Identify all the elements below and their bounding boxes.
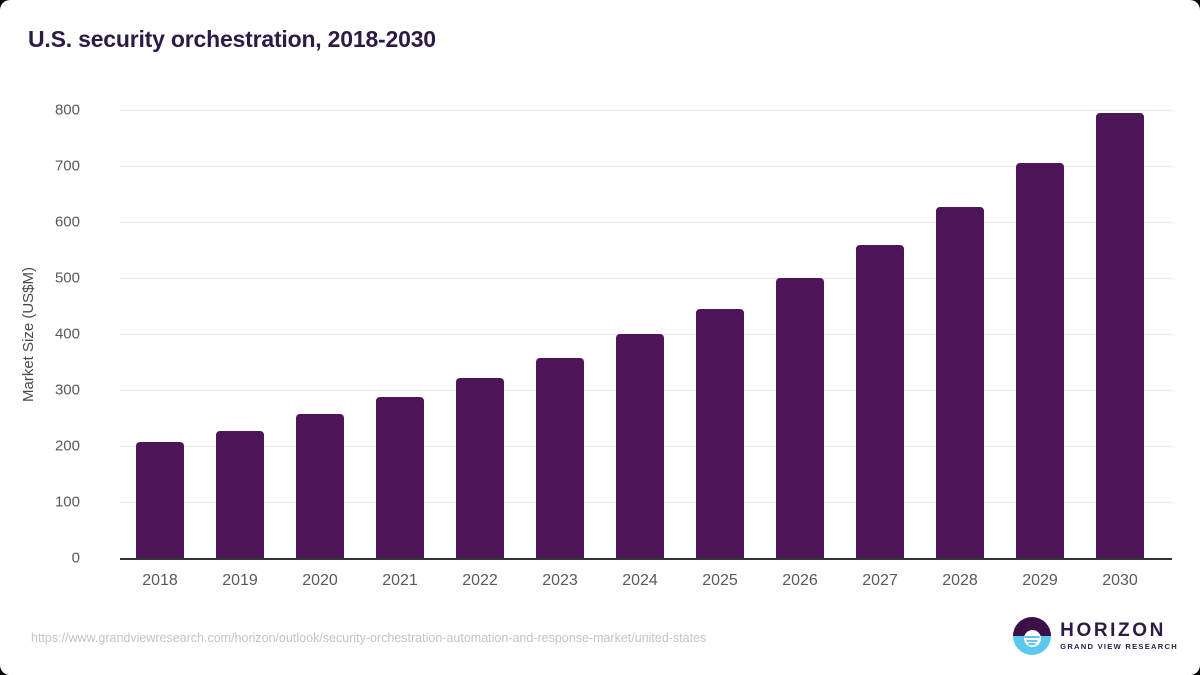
plot-area: 0100200300400500600700800 20182019202020… <box>120 110 1172 558</box>
bar-slot <box>280 110 360 558</box>
chart-card: U.S. security orchestration, 2018-2030 M… <box>0 0 1200 675</box>
chart-title: U.S. security orchestration, 2018-2030 <box>28 26 436 53</box>
bar-2030[interactable] <box>1096 113 1144 558</box>
bar-2029[interactable] <box>1016 163 1064 558</box>
bar-2027[interactable] <box>856 245 904 558</box>
bar-slot <box>680 110 760 558</box>
y-tick-label-300: 300 <box>0 382 80 399</box>
logo-horizon-line-1 <box>1025 636 1040 638</box>
x-tick-label-2024: 2024 <box>600 572 680 590</box>
bar-slot <box>1000 110 1080 558</box>
gridline-0 <box>120 558 1172 560</box>
y-tick-label-500: 500 <box>0 270 80 287</box>
bar-series <box>120 110 1172 558</box>
horizon-logo-text: HORIZON GRAND VIEW RESEARCH <box>1060 621 1178 651</box>
bar-2019[interactable] <box>216 431 264 558</box>
horizon-logo[interactable]: HORIZON GRAND VIEW RESEARCH <box>1013 617 1178 655</box>
y-tick-label-400: 400 <box>0 326 80 343</box>
bar-slot <box>1080 110 1160 558</box>
x-tick-label-2023: 2023 <box>520 572 600 590</box>
x-tick-label-2027: 2027 <box>840 572 920 590</box>
bar-slot <box>760 110 840 558</box>
x-tick-label-2019: 2019 <box>200 572 280 590</box>
source-url[interactable]: https://www.grandviewresearch.com/horizo… <box>31 631 706 645</box>
horizon-logo-icon <box>1013 617 1051 655</box>
bar-2024[interactable] <box>616 334 664 558</box>
y-tick-label-200: 200 <box>0 438 80 455</box>
bar-slot <box>360 110 440 558</box>
x-tick-label-2021: 2021 <box>360 572 440 590</box>
logo-wordmark: HORIZON <box>1060 621 1178 640</box>
x-tick-label-2029: 2029 <box>1000 572 1080 590</box>
bar-slot <box>840 110 920 558</box>
y-tick-label-0: 0 <box>0 550 80 567</box>
bar-2022[interactable] <box>456 378 504 558</box>
logo-horizon-line-3 <box>1029 643 1036 645</box>
bar-2021[interactable] <box>376 397 424 558</box>
bar-2020[interactable] <box>296 414 344 558</box>
bar-slot <box>440 110 520 558</box>
bar-2028[interactable] <box>936 207 984 558</box>
x-tick-label-2026: 2026 <box>760 572 840 590</box>
logo-horizon-line-2 <box>1027 640 1038 642</box>
x-tick-label-2022: 2022 <box>440 572 520 590</box>
y-tick-label-100: 100 <box>0 494 80 511</box>
bar-2018[interactable] <box>136 442 184 558</box>
y-tick-label-600: 600 <box>0 214 80 231</box>
logo-tagline: GRAND VIEW RESEARCH <box>1060 643 1178 651</box>
bar-slot <box>920 110 1000 558</box>
bar-2025[interactable] <box>696 309 744 558</box>
bar-slot <box>600 110 680 558</box>
x-tick-label-2028: 2028 <box>920 572 1000 590</box>
x-tick-label-2030: 2030 <box>1080 572 1160 590</box>
x-tick-label-2020: 2020 <box>280 572 360 590</box>
x-tick-label-2025: 2025 <box>680 572 760 590</box>
bar-slot <box>200 110 280 558</box>
y-tick-label-700: 700 <box>0 158 80 175</box>
y-tick-label-800: 800 <box>0 102 80 119</box>
bar-slot <box>520 110 600 558</box>
bar-2023[interactable] <box>536 358 584 558</box>
x-tick-label-2018: 2018 <box>120 572 200 590</box>
bar-slot <box>120 110 200 558</box>
bar-2026[interactable] <box>776 278 824 558</box>
